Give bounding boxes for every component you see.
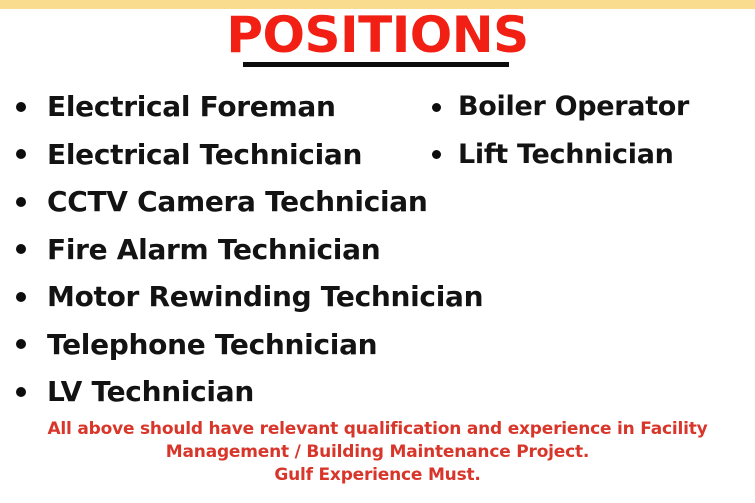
list-item: CCTV Camera Technician: [14, 178, 574, 226]
position-label: Boiler Operator: [458, 91, 689, 122]
bullet-dot-icon: [16, 149, 26, 159]
bullet-dot-icon: [16, 387, 26, 397]
list-item: Motor Rewinding Technician: [14, 273, 574, 321]
bullet-dot-icon: [432, 150, 441, 159]
list-item: LV Technician: [14, 368, 574, 416]
position-label: Motor Rewinding Technician: [47, 280, 483, 313]
position-label: Fire Alarm Technician: [47, 233, 380, 266]
title-underline-rule: [243, 62, 509, 67]
position-label: Telephone Technician: [47, 328, 377, 361]
position-label: Lift Technician: [458, 139, 674, 170]
list-item: Lift Technician: [428, 131, 755, 179]
page-title: POSITIONS: [226, 9, 528, 61]
position-label: LV Technician: [47, 375, 254, 408]
list-item: Telephone Technician: [14, 321, 574, 369]
position-label: Electrical Technician: [47, 138, 362, 171]
bullet-dot-icon: [16, 292, 26, 302]
footer-line: Management / Building Maintenance Projec…: [0, 441, 755, 464]
bullet-dot-icon: [16, 102, 26, 112]
bullet-dot-icon: [16, 197, 26, 207]
footer-line: All above should have relevant qualifica…: [0, 418, 755, 441]
positions-poster: POSITIONS Electrical Foreman Electrical …: [0, 0, 755, 503]
bullet-dot-icon: [432, 103, 441, 112]
list-item: Boiler Operator: [428, 83, 755, 131]
title-block: POSITIONS: [0, 9, 755, 61]
list-item: Fire Alarm Technician: [14, 226, 574, 274]
footer-line: Gulf Experience Must.: [0, 464, 755, 487]
footer-note: All above should have relevant qualifica…: [0, 418, 755, 487]
positions-list-right: Boiler Operator Lift Technician: [428, 83, 755, 178]
positions-area: Electrical Foreman Electrical Technician…: [0, 83, 755, 413]
bullet-dot-icon: [16, 339, 26, 349]
position-label: Electrical Foreman: [47, 90, 336, 123]
bullet-dot-icon: [16, 244, 26, 254]
position-label: CCTV Camera Technician: [47, 185, 428, 218]
